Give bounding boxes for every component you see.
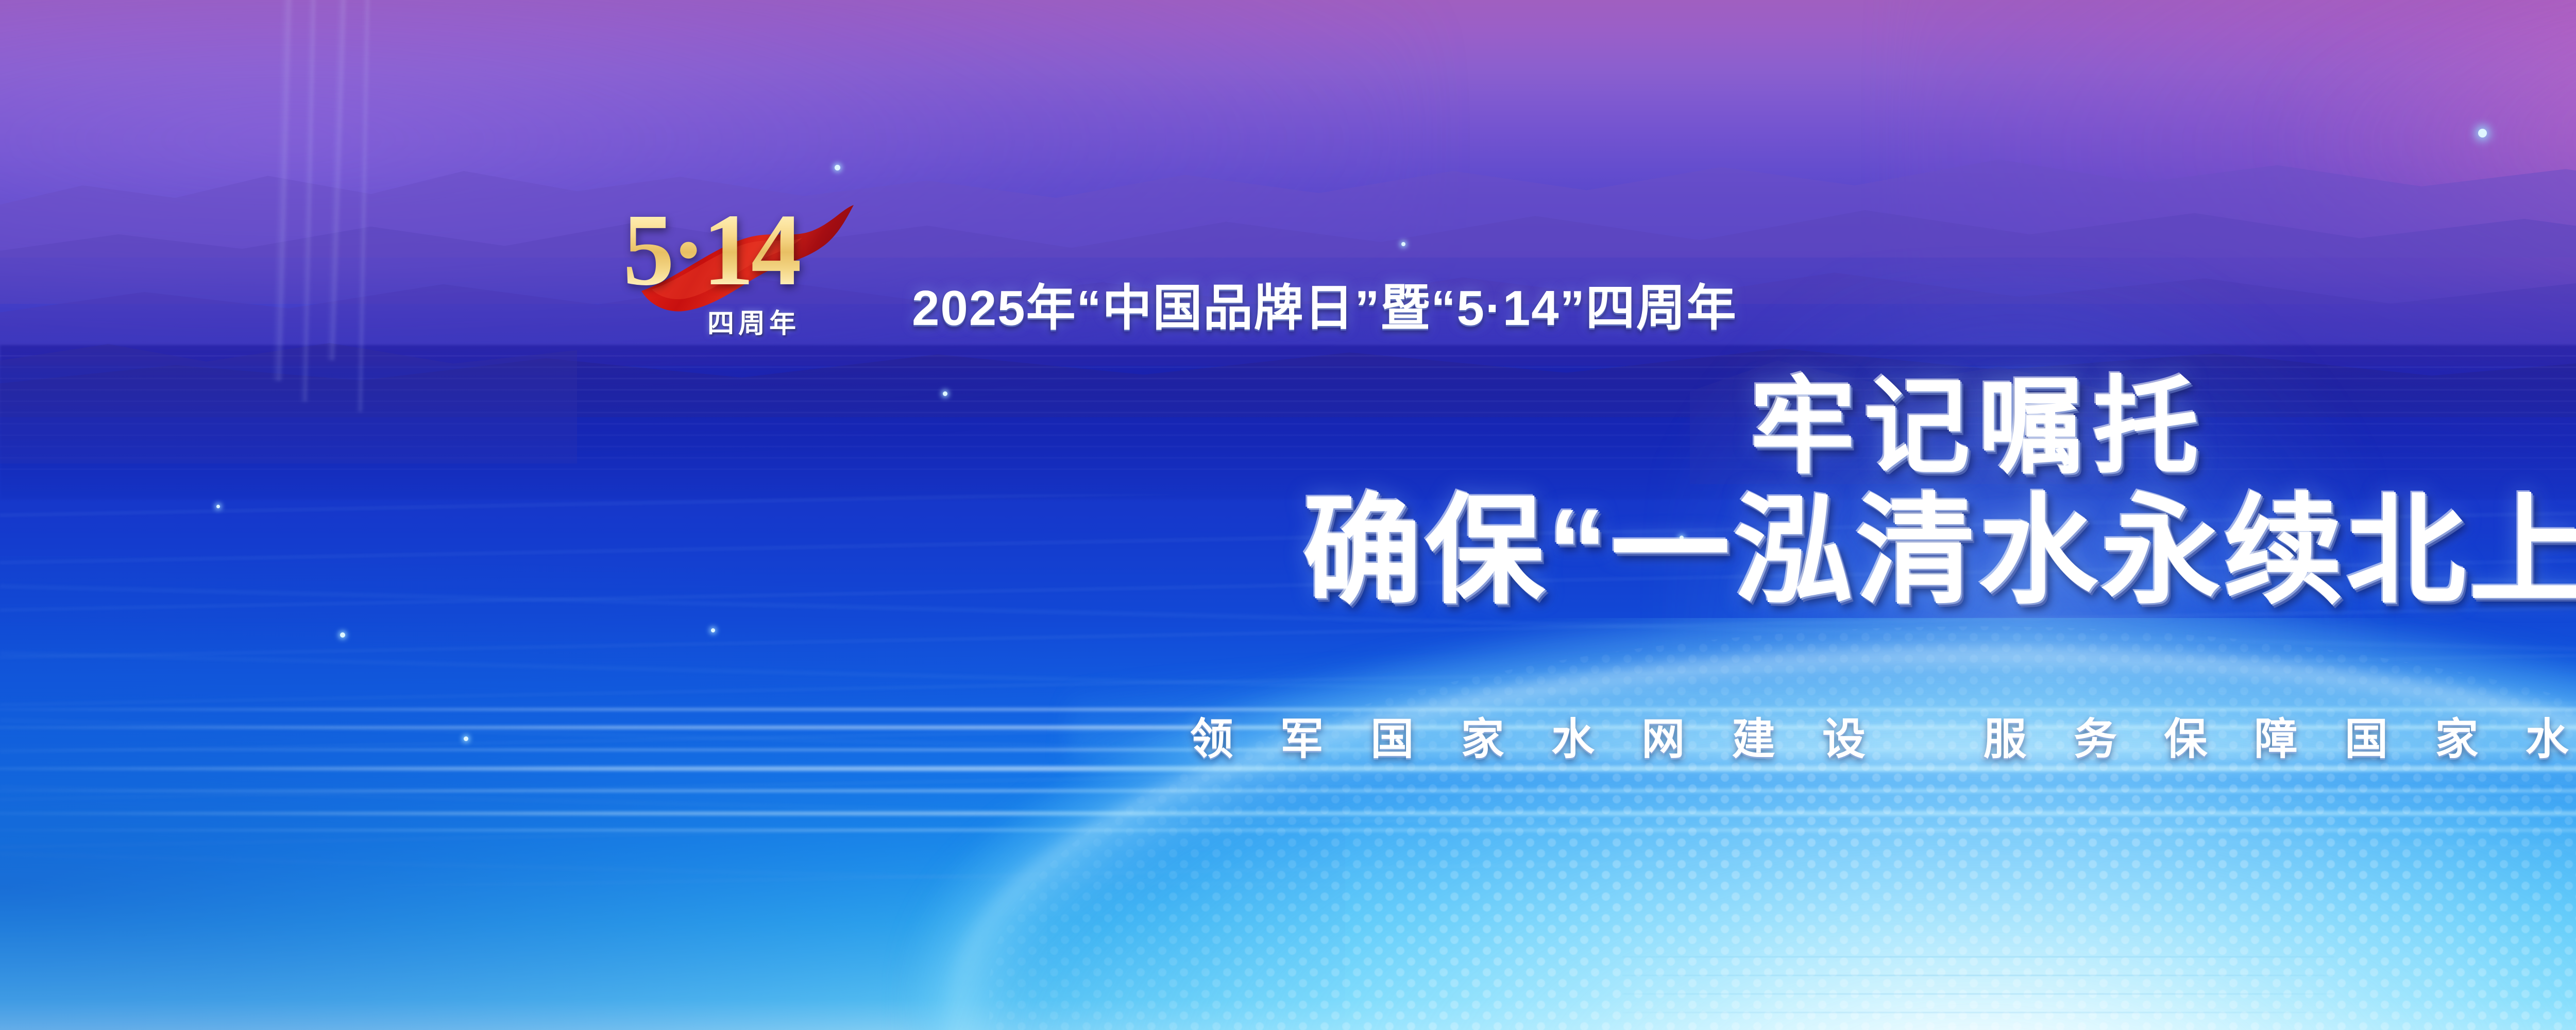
headline: 牢记嘱托 确保“一泓清水永续北上” <box>0 371 2576 615</box>
slogan-part-2: 服 务 保 障 国 家 水 安 全 <box>1984 715 2576 763</box>
banner-content: 5·14 四周年 2025年“中国品牌日”暨“5·14”四周年 <box>0 0 2576 1030</box>
anniversary-logo: 5·14 四周年 <box>621 201 909 345</box>
banner-stage: 5·14 四周年 2025年“中国品牌日”暨“5·14”四周年 <box>0 0 2576 1030</box>
anniversary-number: 5·14 <box>623 199 800 302</box>
anniversary-label: 四周年 <box>707 302 800 340</box>
slogan-part-1: 领 军 国 家 水 网 建 设 <box>1190 715 1883 763</box>
headline-line-1: 牢记嘱托 <box>0 371 2576 483</box>
event-title: 2025年“中国品牌日”暨“5·14”四周年 <box>912 268 1737 339</box>
slogan: 领 军 国 家 水 网 建 设 服 务 保 障 国 家 水 安 全 <box>0 705 2576 767</box>
headline-line-2: 确保“一泓清水永续北上” <box>0 488 2576 615</box>
